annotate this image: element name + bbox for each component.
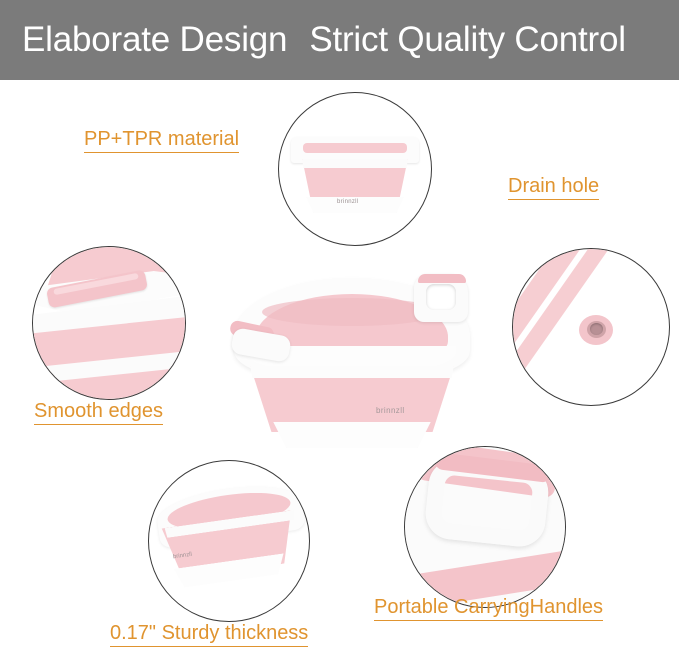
- product-infographic-page: Elaborate DesignStrict Quality Control b…: [0, 0, 679, 652]
- callout-label-smooth-edges: Smooth edges: [34, 400, 163, 425]
- basket-interior-shape: [303, 143, 407, 153]
- callout-image-carrying-handles: [405, 447, 565, 607]
- callout-label-thickness: 0.17" Sturdy thickness: [110, 622, 308, 647]
- callout-bubble-carrying-handles: [404, 446, 566, 608]
- callout-bubble-pptpr: brinnzll: [278, 92, 432, 246]
- brand-logo: brinnzll: [376, 406, 405, 415]
- basket-base-shape: [270, 422, 434, 448]
- banner-title-part-2: Strict Quality Control: [309, 20, 626, 59]
- callout-bubble-thickness: brinnzll: [148, 460, 310, 622]
- basket-white-stripe-shape: [295, 159, 415, 168]
- callout-label-pptpr: PP+TPR material: [84, 128, 239, 153]
- banner-title: Elaborate DesignStrict Quality Control: [22, 20, 626, 60]
- carry-handle-right-opening: [426, 284, 456, 310]
- drain-hole-opening: [590, 323, 603, 335]
- basket-white-stripe-shape: [246, 366, 458, 378]
- callout-image-thickness: brinnzll: [149, 461, 309, 621]
- callout-label-drain-hole: Drain hole: [508, 175, 599, 200]
- callout-bubble-drain-hole: [512, 248, 670, 406]
- callout-label-carrying-handles: Portable CarryingHandles: [374, 596, 603, 621]
- callout-image-drain-hole: [513, 249, 669, 405]
- header-banner: Elaborate DesignStrict Quality Control: [0, 0, 679, 80]
- carry-handle-right-accent: [418, 274, 466, 283]
- callout-image-smooth-edges: [33, 247, 185, 399]
- banner-title-part-1: Elaborate Design: [22, 20, 287, 59]
- main-product-image: brinnzll: [228, 272, 478, 462]
- brand-logo: brinnzll: [337, 199, 358, 205]
- callout-bubble-smooth-edges: [32, 246, 186, 400]
- callout-image-pptpr: brinnzll: [279, 93, 431, 245]
